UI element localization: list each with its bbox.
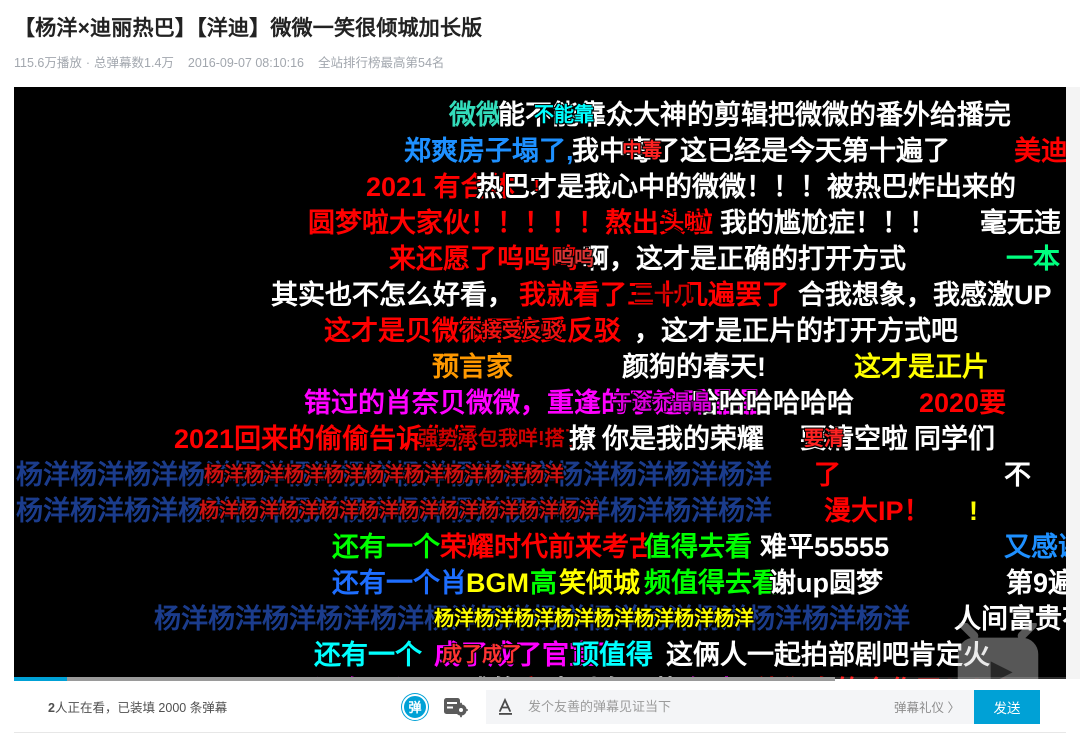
danmaku-row: 还有一个肖BGM高笑倾城频值得去看谢up圆梦第9遍 <box>14 567 1066 601</box>
rank-label: 全站排行榜最高第54名 <box>318 52 444 71</box>
danmaku-row: 来还愿了呜呜呜啊，这才是正确的打开方式呜呜一本 <box>14 243 1066 277</box>
danmaku-comment: ，这才是正片的打开方式吧 <box>634 315 958 347</box>
danmaku-comment: 这才是正片 <box>854 351 989 383</box>
danmaku-comment: 不能靠 <box>534 99 594 131</box>
danmaku-comment: 频值得去看 <box>644 567 779 599</box>
danmaku-comment: 人间富贵花 <box>954 603 1066 635</box>
danmaku-toggle-button[interactable]: 弹 <box>402 694 428 720</box>
danmaku-comment: 难平55555 <box>760 531 889 563</box>
danmaku-comment: 三十几 <box>634 279 694 311</box>
danmaku-comment: 还有一个 <box>314 639 422 671</box>
danmaku-row: 圆梦啦大家伙！！！！！熬出头啦我的尴尬症！！！头啦毫无违 <box>14 207 1066 241</box>
danmaku-row: 郑爽房子塌了,我中毒了这已经是今天第十遍了中毒美迪 <box>14 135 1066 169</box>
danmaku-comment: 又感谢 <box>1004 531 1066 563</box>
danmaku-row: 杨洋杨洋杨洋杨洋杨洋杨洋杨洋杨洋杨洋杨洋杨洋杨洋杨洋杨洋杨洋杨洋杨洋杨洋杨洋杨洋… <box>14 459 1066 493</box>
danmaku-comment: 合我想象，我感激UP <box>798 279 1052 311</box>
danmaku-comment: 头啦 <box>664 207 704 239</box>
danmaku-comment: 中毒 <box>622 135 662 167</box>
viewer-status: 2人正在看，已装填 2000 条弹幕 <box>48 697 227 716</box>
danmaku-comment: 漫大IP！ <box>824 495 931 527</box>
danmaku-comment: 来还愿了呜呜呜 <box>389 243 578 275</box>
danmaku-row: 这才是贝微微不接受反驳，这才是正片的打开方式吧不接受反驳 <box>14 315 1066 349</box>
danmaku-row: 其实也不怎么好看，我就看了三十几遍罢了合我想象，我感激UP三十几 <box>14 279 1066 313</box>
danmaku-toggle-label: 弹 <box>408 697 421 716</box>
danmaku-row: 2021回来的偷偷告诉你们强势承包我咩!搭了撩你是我的荣耀要清空啦要清同学们 <box>14 423 1066 457</box>
meta-separator: · <box>86 56 90 70</box>
danmaku-comment: 荣耀时代前来考古 <box>440 531 656 563</box>
font-style-icon[interactable] <box>496 697 518 717</box>
danmaku-row: 2021 有合体热巴才是我心中的微微！！！被热巴炸出来的! <box>14 171 1066 205</box>
danmaku-comment: 毫无违 <box>980 207 1061 239</box>
danmaku-comment: 其实也不怎么好看， <box>271 279 514 311</box>
danmaku-comment: 高 <box>530 567 557 599</box>
danmaku-row: 还有一个成了成了官宣了顶值得这俩人一起拍部剧吧肯定火成了成了 <box>14 639 1066 673</box>
danmaku-comment: 热巴才是我心中的微微！！！被热巴炸出来的 <box>476 171 1016 203</box>
danmaku-comment: 2020要 <box>919 387 1006 419</box>
danmaku-comment: 杨洋杨洋杨洋杨洋杨洋杨洋杨洋杨洋杨洋 <box>204 459 564 491</box>
danmaku-comment: 我的尴尬症！！！ <box>720 207 936 239</box>
danmaku-comment: 哈哈哈哈哈哈 <box>692 387 854 419</box>
video-player[interactable]: 微微能不能靠众大神的剪辑把微微的番外给播完不能靠郑爽房子塌了,我中毒了这已经是今… <box>14 87 1066 679</box>
danmaku-comment: 颜狗的春天! <box>622 351 766 383</box>
danmaku-comment: 郑爽房子塌了, <box>404 135 574 167</box>
danmaku-row: 还有一个荣耀时代前来考古值得去看难平55555又感谢 <box>14 531 1066 565</box>
video-meta: 115.6万播放·总弹幕数1.4万 2016-09-07 08:10:16 全站… <box>14 52 444 71</box>
danmaku-comment: 圆梦啦大家伙！！！！！熬出头啦 <box>308 207 713 239</box>
danmaku-comment: 成了成了 <box>442 639 522 671</box>
danmaku-comment: 于途乔晶晶 <box>612 387 712 419</box>
danmaku-comment: BGM <box>466 567 529 599</box>
danmaku-etiquette-link[interactable]: 弹幕礼仪 〉 <box>894 697 960 716</box>
player-right-edge <box>1066 87 1080 679</box>
danmaku-comment: 这俩人一起拍部剧吧肯定火 <box>666 639 990 671</box>
danmaku-comment: 第9遍 <box>1006 567 1066 599</box>
danmaku-row: 杨洋杨洋杨洋杨洋杨洋杨洋杨洋杨洋杨洋杨洋杨洋杨洋杨洋杨洋杨洋杨洋杨洋杨洋杨洋杨洋… <box>14 603 1066 637</box>
danmaku-row: 杨洋杨洋杨洋杨洋杨洋杨洋杨洋杨洋杨洋杨洋杨洋杨洋杨洋杨洋杨洋杨洋杨洋杨洋杨洋杨洋… <box>14 495 1066 529</box>
danmaku-comment: 顶值得 <box>572 639 653 671</box>
danmaku-comment: 一本 <box>1006 243 1060 275</box>
play-count: 115.6万播放 <box>14 52 82 71</box>
danmaku-comment: 呜呜 <box>554 243 594 275</box>
bilibili-video-page: 【杨洋×迪丽热巴】【洋迪】微微一笑很倾城加长版 115.6万播放·总弹幕数1.4… <box>0 0 1080 745</box>
danmaku-comment: ! <box>534 171 539 203</box>
danmaku-row: 预言家颜狗的春天!这才是正片 <box>14 351 1066 385</box>
danmaku-comment: 不接受反驳 <box>462 315 562 347</box>
danmaku-comment: 值得去看 <box>644 531 752 563</box>
page-title: 【杨洋×迪丽热巴】【洋迪】微微一笑很倾城加长版 <box>14 12 482 42</box>
danmaku-count: 总弹幕数1.4万 <box>94 52 174 71</box>
danmaku-comment: 你是我的荣耀 <box>602 423 764 455</box>
danmaku-comment: ! <box>969 495 978 527</box>
viewer-status-text: 人正在看，已装填 2000 条弹幕 <box>55 701 227 715</box>
danmaku-settings-icon[interactable] <box>444 696 468 718</box>
danmaku-comment: 美迪 <box>1014 135 1066 167</box>
danmaku-stage: 微微能不能靠众大神的剪辑把微微的番外给播完不能靠郑爽房子塌了,我中毒了这已经是今… <box>14 87 1066 679</box>
danmaku-comment: 同学们 <box>914 423 995 455</box>
danmaku-comment: 强势承包我咩!搭了 <box>418 423 585 455</box>
danmaku-comment: 还有一个 <box>332 531 440 563</box>
danmaku-input-wrap[interactable]: 弹幕礼仪 〉 <box>486 690 974 724</box>
danmaku-comment: 笑倾城 <box>559 567 640 599</box>
danmaku-comment: 微微 <box>449 99 503 131</box>
danmaku-comment: 要清 <box>804 423 844 455</box>
publish-time: 2016-09-07 08:10:16 <box>188 56 304 70</box>
danmaku-comment: 还有一个肖 <box>332 567 467 599</box>
danmaku-comment: 杨洋杨洋杨洋杨洋杨洋杨洋杨洋杨洋杨洋杨洋 <box>199 495 599 527</box>
danmaku-row: 错过的肖奈贝微微，重逢的于途乔晶晶哈哈哈哈哈哈于途乔晶晶2020要 <box>14 387 1066 421</box>
danmaku-comment: 不 <box>1004 459 1031 491</box>
danmaku-comment: 谢up圆梦 <box>769 567 883 599</box>
send-button[interactable]: 发送 <box>974 690 1040 724</box>
danmaku-comment: 了 <box>814 459 841 491</box>
danmaku-comment: 杨洋杨洋杨洋杨洋杨洋杨洋杨洋杨洋 <box>434 603 754 635</box>
viewer-count: 2 <box>48 701 55 715</box>
danmaku-comment: 撩 <box>569 423 596 455</box>
danmaku-row: 微微能不能靠众大神的剪辑把微微的番外给播完不能靠 <box>14 99 1066 133</box>
player-bottom-bar: 2人正在看，已装填 2000 条弹幕 弹 弹幕礼仪 〉 发送 <box>14 681 1066 733</box>
danmaku-comment: 预言家 <box>432 351 513 383</box>
danmaku-comment: 啊，这才是正确的打开方式 <box>582 243 906 275</box>
danmaku-input[interactable] <box>526 698 894 715</box>
